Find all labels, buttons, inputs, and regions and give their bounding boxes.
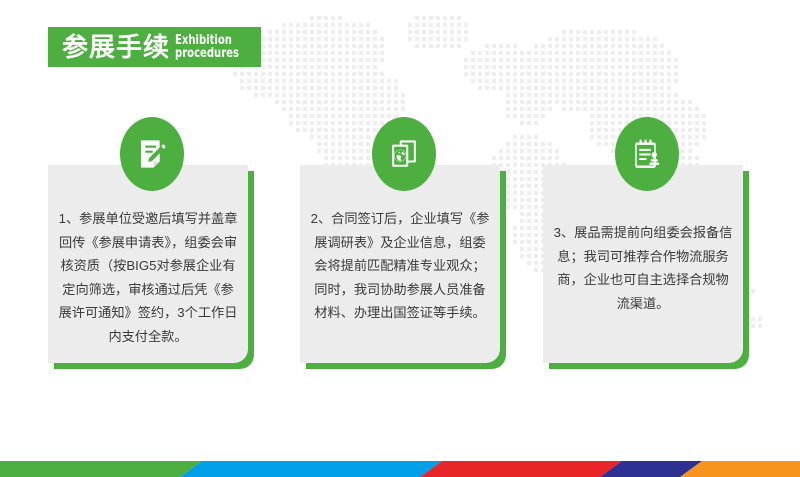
- page-title-banner: 参展手续 Exhibition procedures: [48, 27, 261, 67]
- step-icon-badge-2: [372, 117, 436, 191]
- clipboard-stamp-icon: [630, 137, 664, 171]
- page-title-en: Exhibition procedures: [175, 34, 249, 61]
- steps-container: 1、参展单位受邀后填写并盖章回传《参展申请表》，组委会审核资质（按BIG5对参展…: [0, 0, 800, 477]
- ribbon-segment-red: [420, 461, 622, 477]
- ribbon-segment-blue: [180, 461, 442, 477]
- ribbon-segment-green: [0, 461, 202, 477]
- step-card-text-2: 2、合同签订后，企业填写《参展调研表》及企业信息，组委会将提前匹配精准专业观众；…: [310, 207, 490, 325]
- step-card-text-3: 3、展品需提前向组委会报备信息；我司可推荐合作物流服务商，企业也可自主选择合规物…: [553, 221, 733, 315]
- card-body-2: 2、合同签订后，企业填写《参展调研表》及企业信息，组委会将提前匹配精准专业观众；…: [300, 165, 500, 363]
- card-body-1: 1、参展单位受邀后填写并盖章回传《参展申请表》，组委会审核资质（按BIG5对参展…: [48, 165, 248, 363]
- document-pencil-icon: [135, 137, 169, 171]
- page-title-cn: 参展手续: [62, 34, 170, 60]
- card-body-3: 3、展品需提前向组委会报备信息；我司可推荐合作物流服务商，企业也可自主选择合规物…: [543, 165, 743, 363]
- step-icon-badge-3: [615, 117, 679, 191]
- step-icon-badge-1: [120, 117, 184, 191]
- page-title-en-line-2: procedures: [175, 47, 239, 60]
- page-title-en-line-1: Exhibition: [175, 34, 239, 47]
- step-card-text-1: 1、参展单位受邀后填写并盖章回传《参展申请表》，组委会审核资质（按BIG5对参展…: [58, 207, 238, 348]
- globe-documents-icon: [387, 137, 421, 171]
- bottom-color-ribbon: [0, 461, 800, 477]
